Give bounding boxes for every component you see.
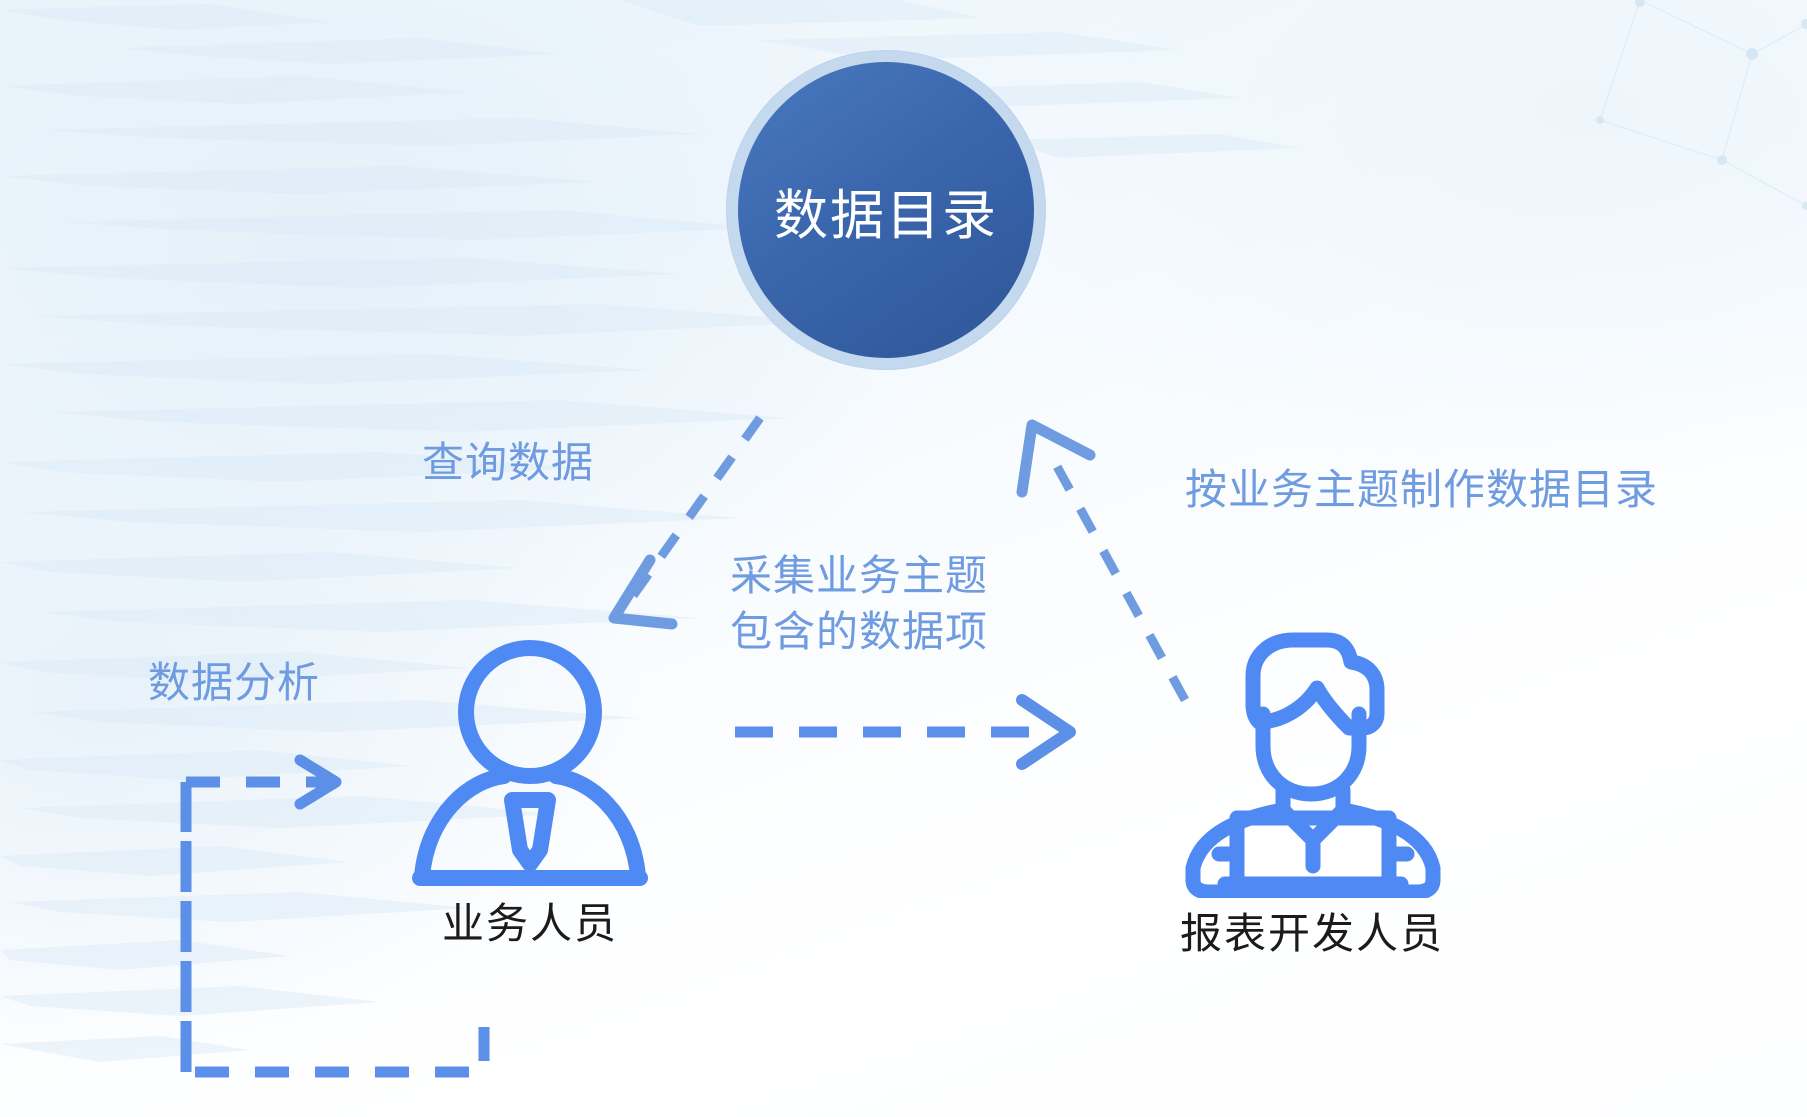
edge-label-collect-items: 采集业务主题 包含的数据项 <box>730 548 988 661</box>
node-data-catalog-label: 数据目录 <box>774 171 998 250</box>
actor-report-developer[interactable]: 报表开发人员 <box>1122 618 1502 961</box>
business-person-icon <box>400 638 660 888</box>
edge-label-query-data: 查询数据 <box>422 435 594 491</box>
actor-business-user[interactable]: 业务人员 <box>355 638 705 951</box>
actor-business-user-label: 业务人员 <box>442 890 618 951</box>
actor-report-developer-label: 报表开发人员 <box>1180 900 1444 961</box>
node-data-catalog[interactable]: 数据目录 <box>738 62 1034 358</box>
diagram-canvas: 数据目录 查询数据 按业务主题制作数据目录 采集业务主题 包含的数据项 数据分析… <box>0 0 1807 1117</box>
edge-collect-items <box>735 700 1070 764</box>
developer-laptop-icon <box>1167 618 1457 898</box>
edge-label-data-analysis: 数据分析 <box>148 655 320 711</box>
edge-label-build-catalog: 按业务主题制作数据目录 <box>1185 462 1658 518</box>
